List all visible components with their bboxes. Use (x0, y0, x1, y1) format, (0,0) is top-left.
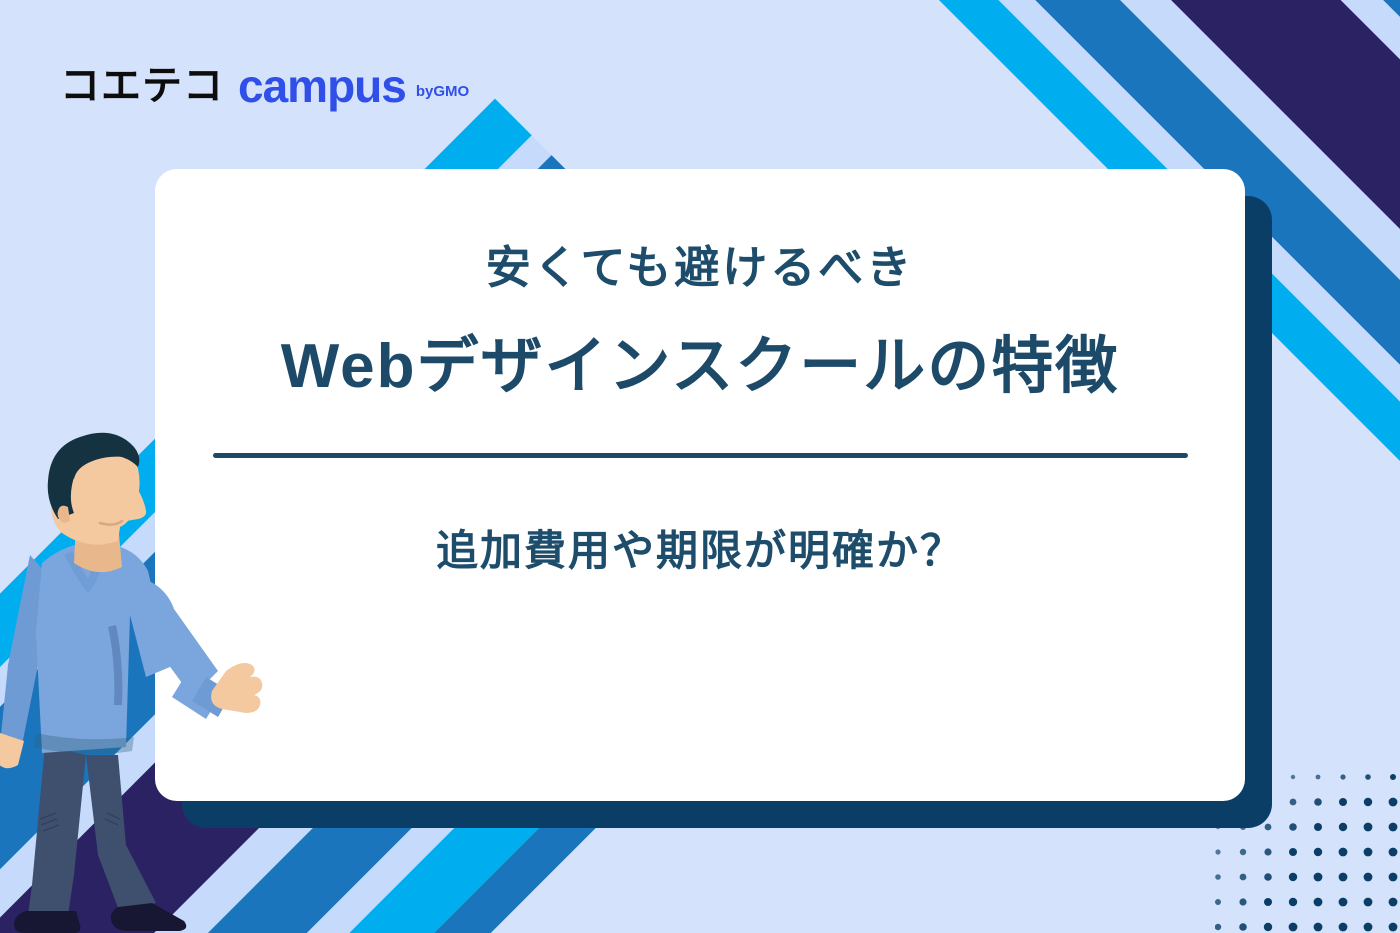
logo-jp-text: コエテコ (60, 66, 224, 106)
brand-logo[interactable]: コエテコ campus byGMO (60, 58, 473, 106)
card-inner: 安くても避けるべき Webデザインスクールの特徴 追加費用や期限が明確か？ (155, 169, 1245, 801)
subtitle-text: 追加費用や期限が明確か？ (436, 530, 964, 572)
content-card: 安くても避けるべき Webデザインスクールの特徴 追加費用や期限が明確か？ (155, 169, 1245, 801)
poster-canvas: 安くても避けるべき Webデザインスクールの特徴 追加費用や期限が明確か？ コエ… (0, 0, 1400, 933)
logo-bygmo-text: byGMO (416, 83, 469, 100)
page-title: Webデザインスクールの特徴 (281, 334, 1120, 399)
title-divider (213, 453, 1188, 458)
logo-campus-text: campus (238, 63, 406, 109)
eyebrow-text: 安くても避けるべき (486, 245, 914, 290)
